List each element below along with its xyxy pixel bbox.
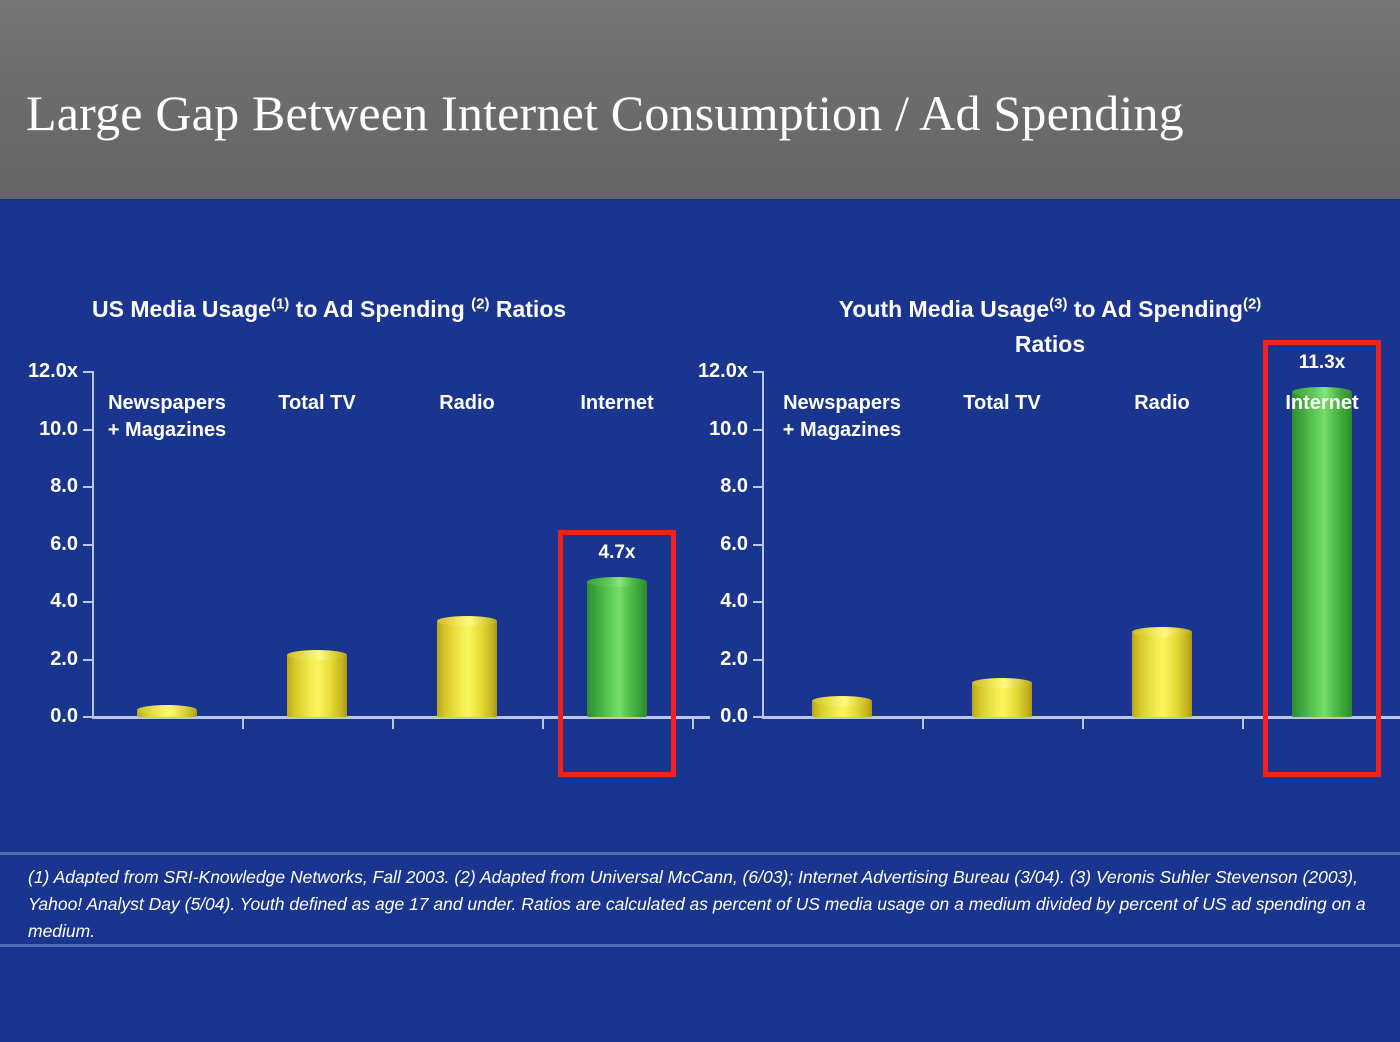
y-axis-tick <box>753 716 764 718</box>
y-axis-tick <box>83 544 94 546</box>
y-axis-tick <box>83 429 94 431</box>
bar-body <box>437 621 497 717</box>
x-axis-category-label: Total TV <box>278 390 355 417</box>
footnote-text: (1) Adapted from SRI-Knowledge Networks,… <box>28 864 1376 945</box>
page-title: Large Gap Between Internet Consumption /… <box>26 88 1376 138</box>
x-axis-category-label: Total TV <box>963 390 1040 417</box>
plot-area-left: 0.02.04.06.08.010.012.0xNewspapers+ Maga… <box>92 372 692 717</box>
highlight-box-internet <box>558 530 676 777</box>
y-axis-tick-label: 4.0 <box>720 590 748 613</box>
x-axis-tick <box>692 718 694 729</box>
chart-title-left: US Media Usage(1) to Ad Spending (2) Rat… <box>0 292 700 327</box>
y-axis-tick <box>753 659 764 661</box>
y-axis-tick <box>753 601 764 603</box>
slide-header-band: Large Gap Between Internet Consumption /… <box>0 0 1400 199</box>
y-axis-tick-label: 10.0 <box>39 418 78 441</box>
bar-top-ellipse <box>1132 627 1192 637</box>
x-axis-tick <box>242 718 244 729</box>
y-axis-tick-label: 6.0 <box>50 533 78 556</box>
bar-radio <box>437 621 497 717</box>
y-axis-tick-label: 12.0x <box>28 360 78 383</box>
y-axis-tick <box>753 544 764 546</box>
y-axis-tick <box>83 371 94 373</box>
y-axis-tick-label: 12.0x <box>698 360 748 383</box>
y-axis-tick <box>753 486 764 488</box>
bar-total-tv <box>287 655 347 717</box>
y-axis-tick <box>83 659 94 661</box>
bar-top-ellipse <box>287 650 347 660</box>
bar-top-ellipse <box>437 616 497 626</box>
bar-body <box>287 655 347 717</box>
x-axis-category-label: Radio <box>1134 390 1190 417</box>
chart-title-left-footnote-1: (1) <box>271 295 289 312</box>
x-axis-tick <box>392 718 394 729</box>
x-axis-category-label: Internet <box>580 390 653 417</box>
y-axis-tick <box>83 601 94 603</box>
y-axis-tick <box>83 716 94 718</box>
chart-panel-us-media-usage: US Media Usage(1) to Ad Spending (2) Rat… <box>0 206 700 826</box>
y-axis-tick-label: 0.0 <box>720 705 748 728</box>
bar-top-ellipse <box>972 678 1032 688</box>
bar-body <box>972 683 1032 718</box>
x-axis-tick <box>922 718 924 729</box>
highlight-box-internet <box>1263 340 1381 777</box>
x-axis-category-label: Newspapers+ Magazines <box>108 390 226 444</box>
chart-title-left-mid: to Ad Spending <box>289 296 471 322</box>
chart-title-left-end: Ratios <box>489 296 566 322</box>
bar-top-ellipse <box>137 705 197 715</box>
x-axis-category-label: Newspapers+ Magazines <box>783 390 901 444</box>
bar-top-ellipse <box>812 696 872 706</box>
y-axis-tick-label: 2.0 <box>720 648 748 671</box>
x-axis-tick <box>542 718 544 729</box>
y-axis-tick <box>753 429 764 431</box>
y-axis-tick-label: 6.0 <box>720 533 748 556</box>
chart-title-right-end: Ratios <box>1015 331 1085 357</box>
chart-title-right-mid: to Ad Spending <box>1067 296 1242 322</box>
y-axis-tick-label: 8.0 <box>720 475 748 498</box>
x-axis-tick <box>1082 718 1084 729</box>
plot-area-right: 0.02.04.06.08.010.012.0xNewspapers+ Maga… <box>762 372 1400 717</box>
bar-total-tv <box>972 683 1032 718</box>
slide-footer: MorganStanley 43 Yourseeker <box>0 947 1400 1042</box>
x-axis-tick <box>1242 718 1244 729</box>
chart-panel-youth-media-usage: Youth Media Usage(3) to Ad Spending(2)Ra… <box>700 206 1400 826</box>
bar-newspapers-magazines <box>812 701 872 717</box>
y-axis-tick-label: 10.0 <box>709 418 748 441</box>
slide: Large Gap Between Internet Consumption /… <box>0 0 1400 1042</box>
bar-newspapers-magazines <box>137 710 197 717</box>
chart-title-right-main: Youth Media Usage <box>839 296 1049 322</box>
chart-title-left-main: US Media Usage <box>92 296 271 322</box>
y-axis-tick-label: 0.0 <box>50 705 78 728</box>
y-axis-tick-label: 2.0 <box>50 648 78 671</box>
y-axis-tick-label: 8.0 <box>50 475 78 498</box>
chart-title-right-footnote-2: (2) <box>1243 295 1261 312</box>
chart-title-left-footnote-2: (2) <box>471 295 489 312</box>
divider-above-footnote <box>0 852 1400 855</box>
y-axis-tick <box>83 486 94 488</box>
chart-title-right-footnote-3: (3) <box>1049 295 1067 312</box>
bar-body <box>1132 632 1192 717</box>
x-axis-category-label: Radio <box>439 390 495 417</box>
y-axis-tick <box>753 371 764 373</box>
bar-radio <box>1132 632 1192 717</box>
y-axis-tick-label: 4.0 <box>50 590 78 613</box>
